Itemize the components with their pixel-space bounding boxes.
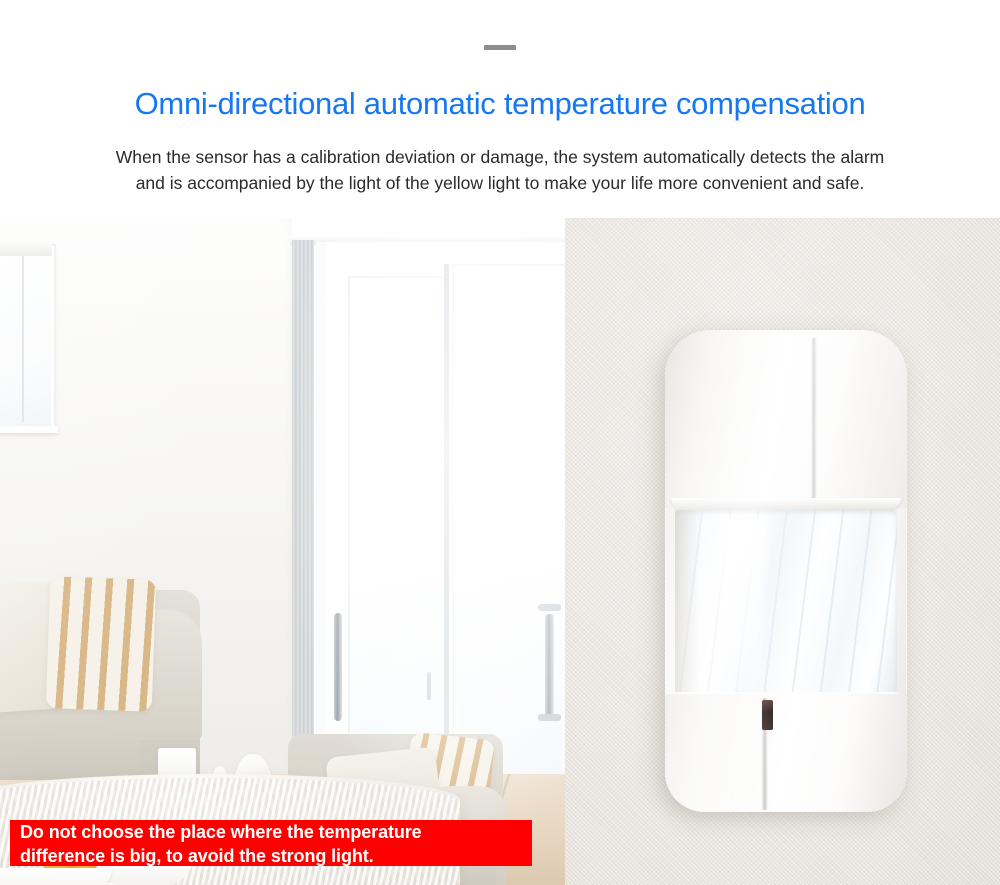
warning-banner-line-2: difference is big, to avoid the strong l… bbox=[10, 844, 532, 868]
door-glass-divider bbox=[444, 264, 449, 806]
sensor-upper-housing bbox=[665, 330, 907, 508]
door-glass-pane-right bbox=[452, 264, 565, 810]
sofa-cushion-striped bbox=[46, 576, 157, 712]
sensor-housing-seam bbox=[811, 338, 817, 510]
sensor-product-photo bbox=[565, 218, 1000, 885]
sensor-led-indicator bbox=[762, 700, 773, 730]
lens-specular-highlight bbox=[712, 516, 767, 692]
pir-motion-sensor bbox=[665, 330, 907, 812]
door-handle-bracket-bottom bbox=[538, 714, 561, 721]
horizontal-rule-icon bbox=[484, 45, 516, 50]
page-subtitle: When the sensor has a calibration deviat… bbox=[28, 144, 972, 196]
fresnel-lens-ribs bbox=[675, 510, 897, 696]
window-sill bbox=[0, 426, 58, 433]
warning-banner-line-1: Do not choose the place where the temper… bbox=[10, 820, 532, 844]
page-subtitle-line-1: When the sensor has a calibration deviat… bbox=[28, 144, 972, 170]
header-section: Omni-directional automatic temperature c… bbox=[0, 0, 1000, 218]
page-subtitle-line-2: and is accompanied by the light of the y… bbox=[28, 170, 972, 196]
door-handle-inner bbox=[334, 613, 342, 721]
image-gallery: Do not choose the place where the temper… bbox=[0, 218, 1000, 885]
door-glass-pane-left bbox=[348, 276, 446, 810]
door-latch bbox=[427, 672, 431, 700]
vertical-blind-curtain bbox=[292, 240, 314, 818]
warning-banner: Do not choose the place where the temper… bbox=[10, 820, 532, 866]
product-feature-page: Omni-directional automatic temperature c… bbox=[0, 0, 1000, 885]
sensor-lower-housing bbox=[665, 694, 907, 812]
window-roller-blind bbox=[0, 240, 52, 256]
window-mullion bbox=[22, 250, 24, 422]
living-room-photo: Do not choose the place where the temper… bbox=[0, 218, 565, 885]
fruit-bowl bbox=[0, 868, 112, 885]
sensor-upper-edge-lip bbox=[671, 498, 901, 510]
page-title: Omni-directional automatic temperature c… bbox=[0, 84, 1000, 124]
lens-left-shading bbox=[675, 510, 701, 696]
small-window bbox=[0, 246, 54, 430]
door-handle-bracket-top bbox=[538, 604, 561, 611]
door-handle-outer bbox=[545, 614, 554, 718]
